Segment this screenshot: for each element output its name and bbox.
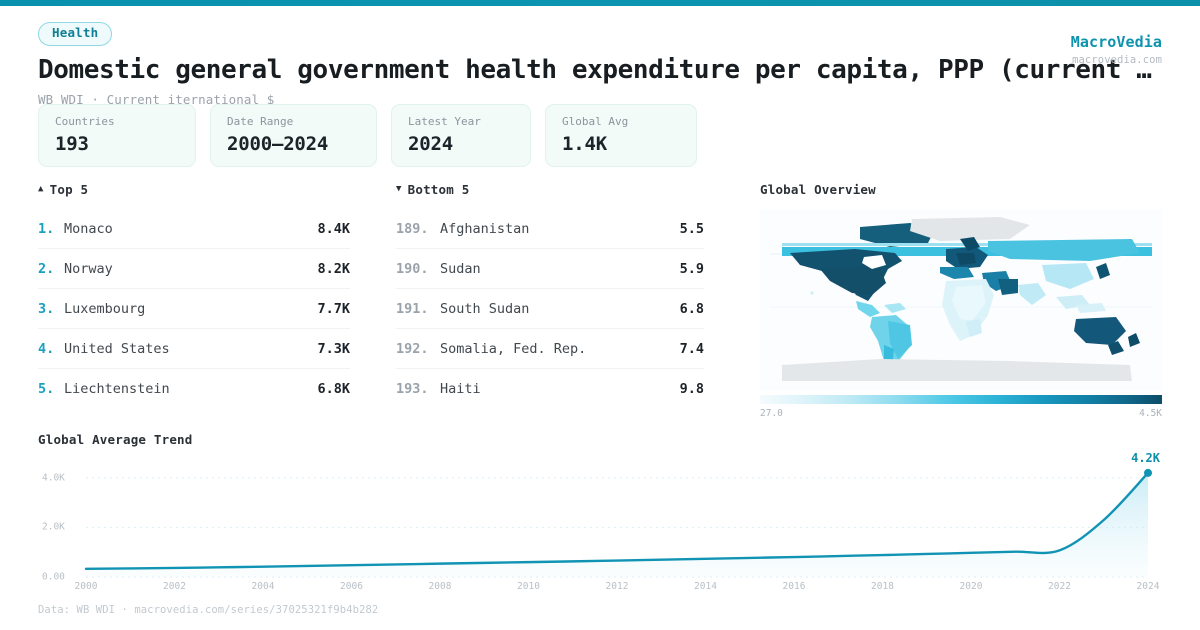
- x-axis-tick: 2010: [517, 581, 540, 592]
- top5-rows: 1. Monaco 8.4K 2. Norway 8.2K 3. Luxembo…: [38, 209, 350, 409]
- trend-panel: Global Average Trend 0.002.0K4.0K 200020…: [38, 432, 1162, 602]
- stat-value: 2000—2024: [227, 135, 360, 154]
- map-panel: Global Overview: [760, 182, 1162, 419]
- stat-label: Date Range: [227, 116, 360, 127]
- row-country: Afghanistan: [440, 221, 680, 237]
- table-row[interactable]: 192. Somalia, Fed. Rep. 7.4: [396, 329, 704, 369]
- stat-card-global-avg: Global Avg 1.4K: [545, 104, 697, 167]
- x-axis-tick: 2000: [75, 581, 98, 592]
- stat-label: Latest Year: [408, 116, 514, 127]
- x-axis-tick: 2002: [163, 581, 186, 592]
- infographic-page: Health Domestic general government healt…: [0, 0, 1200, 630]
- row-value: 5.9: [680, 261, 704, 277]
- row-country: Haiti: [440, 381, 680, 397]
- stat-card-date-range: Date Range 2000—2024: [210, 104, 377, 167]
- x-axis-tick: 2008: [429, 581, 452, 592]
- stat-value: 2024: [408, 135, 514, 154]
- stat-card-countries: Countries 193: [38, 104, 196, 167]
- y-axis-tick: 0.00: [42, 572, 65, 583]
- x-axis-tick: 2004: [252, 581, 275, 592]
- row-rank: 189.: [396, 221, 440, 237]
- bottom5-heading-label: Bottom 5: [408, 182, 470, 197]
- top5-heading: ▲ Top 5: [38, 182, 350, 197]
- x-axis-tick: 2006: [340, 581, 363, 592]
- row-value: 6.8: [680, 301, 704, 317]
- table-row[interactable]: 2. Norway 8.2K: [38, 249, 350, 289]
- row-rank: 191.: [396, 301, 440, 317]
- trend-heading: Global Average Trend: [38, 432, 1162, 447]
- row-value: 7.4: [680, 341, 704, 357]
- x-axis-tick: 2016: [783, 581, 806, 592]
- table-row[interactable]: 189. Afghanistan 5.5: [396, 209, 704, 249]
- x-axis-tick: 2014: [694, 581, 717, 592]
- x-axis-tick: 2024: [1137, 581, 1160, 592]
- map-heading: Global Overview: [760, 182, 1162, 197]
- category-badge: Health: [38, 22, 112, 46]
- row-country: United States: [64, 341, 317, 357]
- stat-cards: Countries 193 Date Range 2000—2024 Lates…: [38, 104, 697, 167]
- page-title: Domestic general government health expen…: [38, 56, 1038, 86]
- row-rank: 190.: [396, 261, 440, 277]
- brand-url: macrovedia.com: [1071, 54, 1162, 66]
- table-row[interactable]: 190. Sudan 5.9: [396, 249, 704, 289]
- table-row[interactable]: 191. South Sudan 6.8: [396, 289, 704, 329]
- trend-chart: 0.002.0K4.0K 200020022004200620082010201…: [38, 457, 1162, 602]
- x-axis-tick: 2022: [1048, 581, 1071, 592]
- y-axis-tick: 4.0K: [42, 472, 65, 483]
- bottom5-panel: ▼ Bottom 5 189. Afghanistan 5.5 190. Sud…: [396, 182, 704, 409]
- row-rank: 4.: [38, 341, 64, 357]
- row-country: Luxembourg: [64, 301, 317, 317]
- x-axis-tick: 2018: [871, 581, 894, 592]
- row-rank: 3.: [38, 301, 64, 317]
- header: Health Domestic general government healt…: [38, 22, 1038, 107]
- table-row[interactable]: 193. Haiti 9.8: [396, 369, 704, 409]
- top5-heading-label: Top 5: [50, 182, 89, 197]
- top5-panel: ▲ Top 5 1. Monaco 8.4K 2. Norway 8.2K 3.…: [38, 182, 350, 409]
- row-rank: 2.: [38, 261, 64, 277]
- row-value: 6.8K: [317, 381, 350, 397]
- row-rank: 193.: [396, 381, 440, 397]
- top-accent-bar: [0, 0, 1200, 6]
- row-value: 8.2K: [317, 261, 350, 277]
- choropleth-map: [760, 209, 1162, 391]
- brand-name: MacroVedia: [1071, 33, 1162, 51]
- row-rank: 5.: [38, 381, 64, 397]
- triangle-down-icon: ▼: [396, 185, 402, 194]
- bottom5-rows: 189. Afghanistan 5.5 190. Sudan 5.9 191.…: [396, 209, 704, 409]
- world-map-svg: [760, 209, 1162, 391]
- legend-max: 4.5K: [1139, 408, 1162, 419]
- footer-source: Data: WB WDI · macrovedia.com/series/370…: [38, 604, 378, 616]
- map-colorbar: [760, 395, 1162, 404]
- row-country: Monaco: [64, 221, 317, 237]
- row-country: Somalia, Fed. Rep.: [440, 341, 680, 357]
- row-country: Norway: [64, 261, 317, 277]
- row-country: South Sudan: [440, 301, 680, 317]
- stat-value: 193: [55, 135, 179, 154]
- row-value: 8.4K: [317, 221, 350, 237]
- row-value: 9.8: [680, 381, 704, 397]
- bottom5-heading: ▼ Bottom 5: [396, 182, 704, 197]
- row-value: 7.7K: [317, 301, 350, 317]
- legend-min: 27.0: [760, 408, 783, 419]
- x-axis-tick: 2012: [606, 581, 629, 592]
- table-row[interactable]: 4. United States 7.3K: [38, 329, 350, 369]
- stat-label: Countries: [55, 116, 179, 127]
- end-point-marker: [1144, 469, 1152, 477]
- row-country: Sudan: [440, 261, 680, 277]
- x-axis-tick: 2020: [960, 581, 983, 592]
- table-row[interactable]: 1. Monaco 8.4K: [38, 209, 350, 249]
- row-value: 5.5: [680, 221, 704, 237]
- trend-chart-svg: [38, 457, 1162, 602]
- map-legend-labels: 27.0 4.5K: [760, 408, 1162, 419]
- y-axis-tick: 2.0K: [42, 522, 65, 533]
- stat-value: 1.4K: [562, 135, 680, 154]
- stat-card-latest-year: Latest Year 2024: [391, 104, 531, 167]
- end-value-label: 4.2K: [1131, 451, 1160, 465]
- table-row[interactable]: 5. Liechtenstein 6.8K: [38, 369, 350, 409]
- table-row[interactable]: 3. Luxembourg 7.7K: [38, 289, 350, 329]
- brand: MacroVedia macrovedia.com: [1071, 33, 1162, 66]
- stat-label: Global Avg: [562, 116, 680, 127]
- row-rank: 1.: [38, 221, 64, 237]
- row-value: 7.3K: [317, 341, 350, 357]
- row-rank: 192.: [396, 341, 440, 357]
- triangle-up-icon: ▲: [38, 185, 44, 194]
- row-country: Liechtenstein: [64, 381, 317, 397]
